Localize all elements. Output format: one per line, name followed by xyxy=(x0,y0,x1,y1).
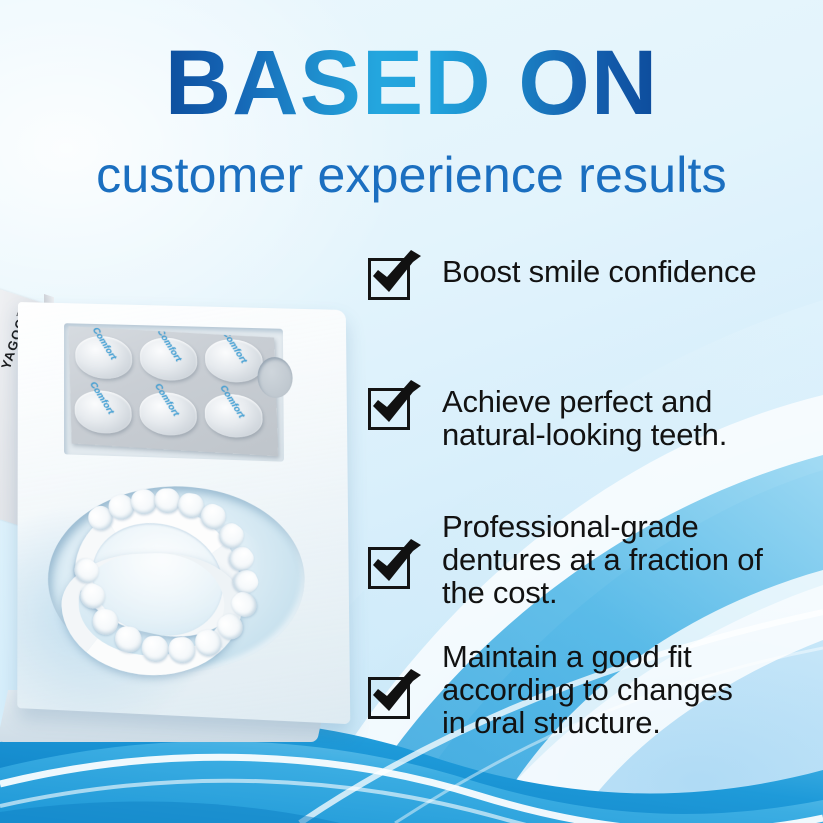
adhesive-blister-pack: Comfort Comfort Comfort Comfort Comfort … xyxy=(69,326,279,456)
checklist-item-boost-smile-confidence[interactable]: Boost smile confidence xyxy=(368,256,756,300)
checklist-item-label: Achieve perfect and natural-looking teet… xyxy=(442,386,727,452)
box-tray: Comfort Comfort Comfort Comfort Comfort … xyxy=(17,302,350,724)
page-title: BASED ON xyxy=(165,38,659,128)
checklist-item-achieve-natural-teeth[interactable]: Achieve perfect and natural-looking teet… xyxy=(368,386,727,452)
advertisement-canvas: BASED ON customer experience results YAG… xyxy=(0,0,823,823)
checkmark-box-icon[interactable] xyxy=(368,547,410,589)
checkmark-glyph xyxy=(365,376,425,434)
headline-container: BASED ON xyxy=(0,38,823,128)
checklist-item-label: Boost smile confidence xyxy=(442,256,756,289)
checkmark-box-icon[interactable] xyxy=(368,258,410,300)
blister-compartment: Comfort Comfort Comfort Comfort Comfort … xyxy=(64,323,284,461)
tooth xyxy=(141,636,169,662)
checkmark-glyph xyxy=(365,246,425,304)
product-photo: YAGOO™ Comfort Comfort Comfort Comfort xyxy=(0,286,350,756)
checklist-item-label: Professional-grade dentures at a fractio… xyxy=(442,511,763,610)
checklist-item-label: Maintain a good fit according to changes… xyxy=(442,641,733,740)
checklist-item-professional-grade-dentures[interactable]: Professional-grade dentures at a fractio… xyxy=(368,511,763,610)
checklist-item-maintain-good-fit[interactable]: Maintain a good fit according to changes… xyxy=(368,641,733,740)
checkmark-box-icon[interactable] xyxy=(368,388,410,430)
subheadline-container: customer experience results xyxy=(0,146,823,204)
checkmark-glyph xyxy=(365,535,425,593)
checkmark-glyph xyxy=(365,665,425,723)
tray-thumb-notch xyxy=(257,357,292,399)
checkmark-box-icon[interactable] xyxy=(368,677,410,719)
page-subtitle: customer experience results xyxy=(96,146,727,204)
